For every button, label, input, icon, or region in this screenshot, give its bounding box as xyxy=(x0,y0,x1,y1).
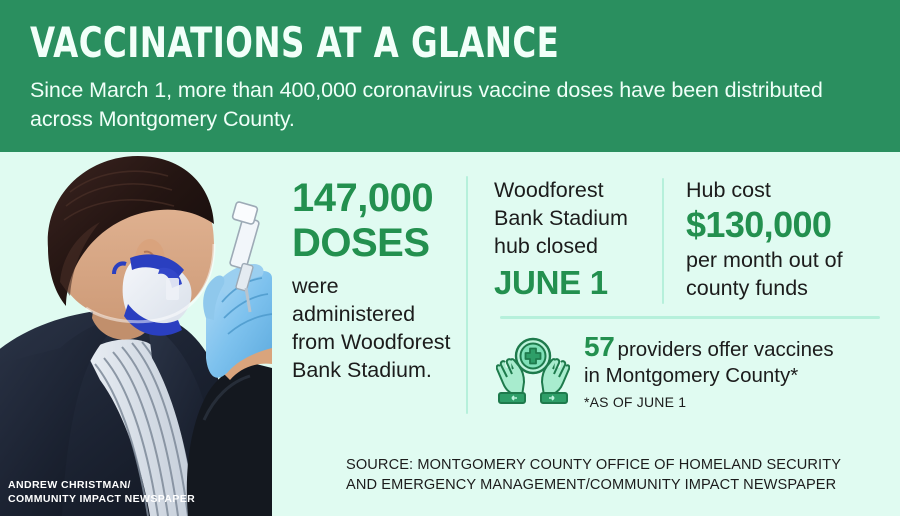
hub-cost-label: Hub cost xyxy=(686,176,886,204)
stat-doses: 147,000 DOSES were administered from Woo… xyxy=(292,176,462,384)
source-note: SOURCE: MONTGOMERY COUNTY OFFICE OF HOME… xyxy=(346,455,892,495)
stat-hub-cost: Hub cost $130,000 per month out of count… xyxy=(686,176,886,302)
photo-credit-line2: COMMUNITY IMPACT NEWSPAPER xyxy=(8,493,195,505)
divider-vertical-right xyxy=(662,178,664,304)
hands-holding-medical-cross-icon xyxy=(496,336,570,411)
source-line2: AND EMERGENCY MANAGEMENT/COMMUNITY IMPAC… xyxy=(346,475,892,495)
stadium-closure-text: Woodforest Bank Stadium hub closed xyxy=(494,176,654,260)
hub-cost-amount: $130,000 xyxy=(686,204,886,246)
divider-vertical-left xyxy=(466,176,468,414)
providers-line1-row: 57providers offer vaccines xyxy=(584,334,896,363)
stat-stadium-closure: Woodforest Bank Stadium hub closed JUNE … xyxy=(494,176,654,302)
photo-vaccination: ANDREW CHRISTMAN/COMMUNITY IMPACT NEWSPA… xyxy=(0,152,272,516)
vaccination-infographic: VACCINATIONS AT A GLANCE Since March 1, … xyxy=(0,0,900,516)
header-subtitle: Since March 1, more than 400,000 coronav… xyxy=(30,76,870,134)
providers-asof-note: *AS OF JUNE 1 xyxy=(584,393,896,412)
divider-horizontal xyxy=(500,316,880,319)
page-title: VACCINATIONS AT A GLANCE xyxy=(30,20,752,66)
source-line1: SOURCE: MONTGOMERY COUNTY OFFICE OF HOME… xyxy=(346,455,892,475)
photo-credit: ANDREW CHRISTMAN/COMMUNITY IMPACT NEWSPA… xyxy=(8,479,195,506)
providers-line1: providers offer vaccines xyxy=(618,338,834,361)
stat-providers: 57providers offer vaccines in Montgomery… xyxy=(496,332,896,412)
stadium-closure-date: JUNE 1 xyxy=(494,264,654,302)
doses-unit: DOSES xyxy=(292,221,462,266)
header-banner: VACCINATIONS AT A GLANCE Since March 1, … xyxy=(0,0,900,152)
doses-description: were administered from Woodforest Bank S… xyxy=(292,272,462,384)
providers-count: 57 xyxy=(584,331,615,362)
providers-line2: in Montgomery County* xyxy=(584,363,896,389)
hub-cost-note: per month out of county funds xyxy=(686,246,886,302)
providers-text: 57providers offer vaccines in Montgomery… xyxy=(584,332,896,412)
photo-credit-line1: ANDREW CHRISTMAN/ xyxy=(8,479,131,491)
doses-number: 147,000 xyxy=(292,176,462,221)
